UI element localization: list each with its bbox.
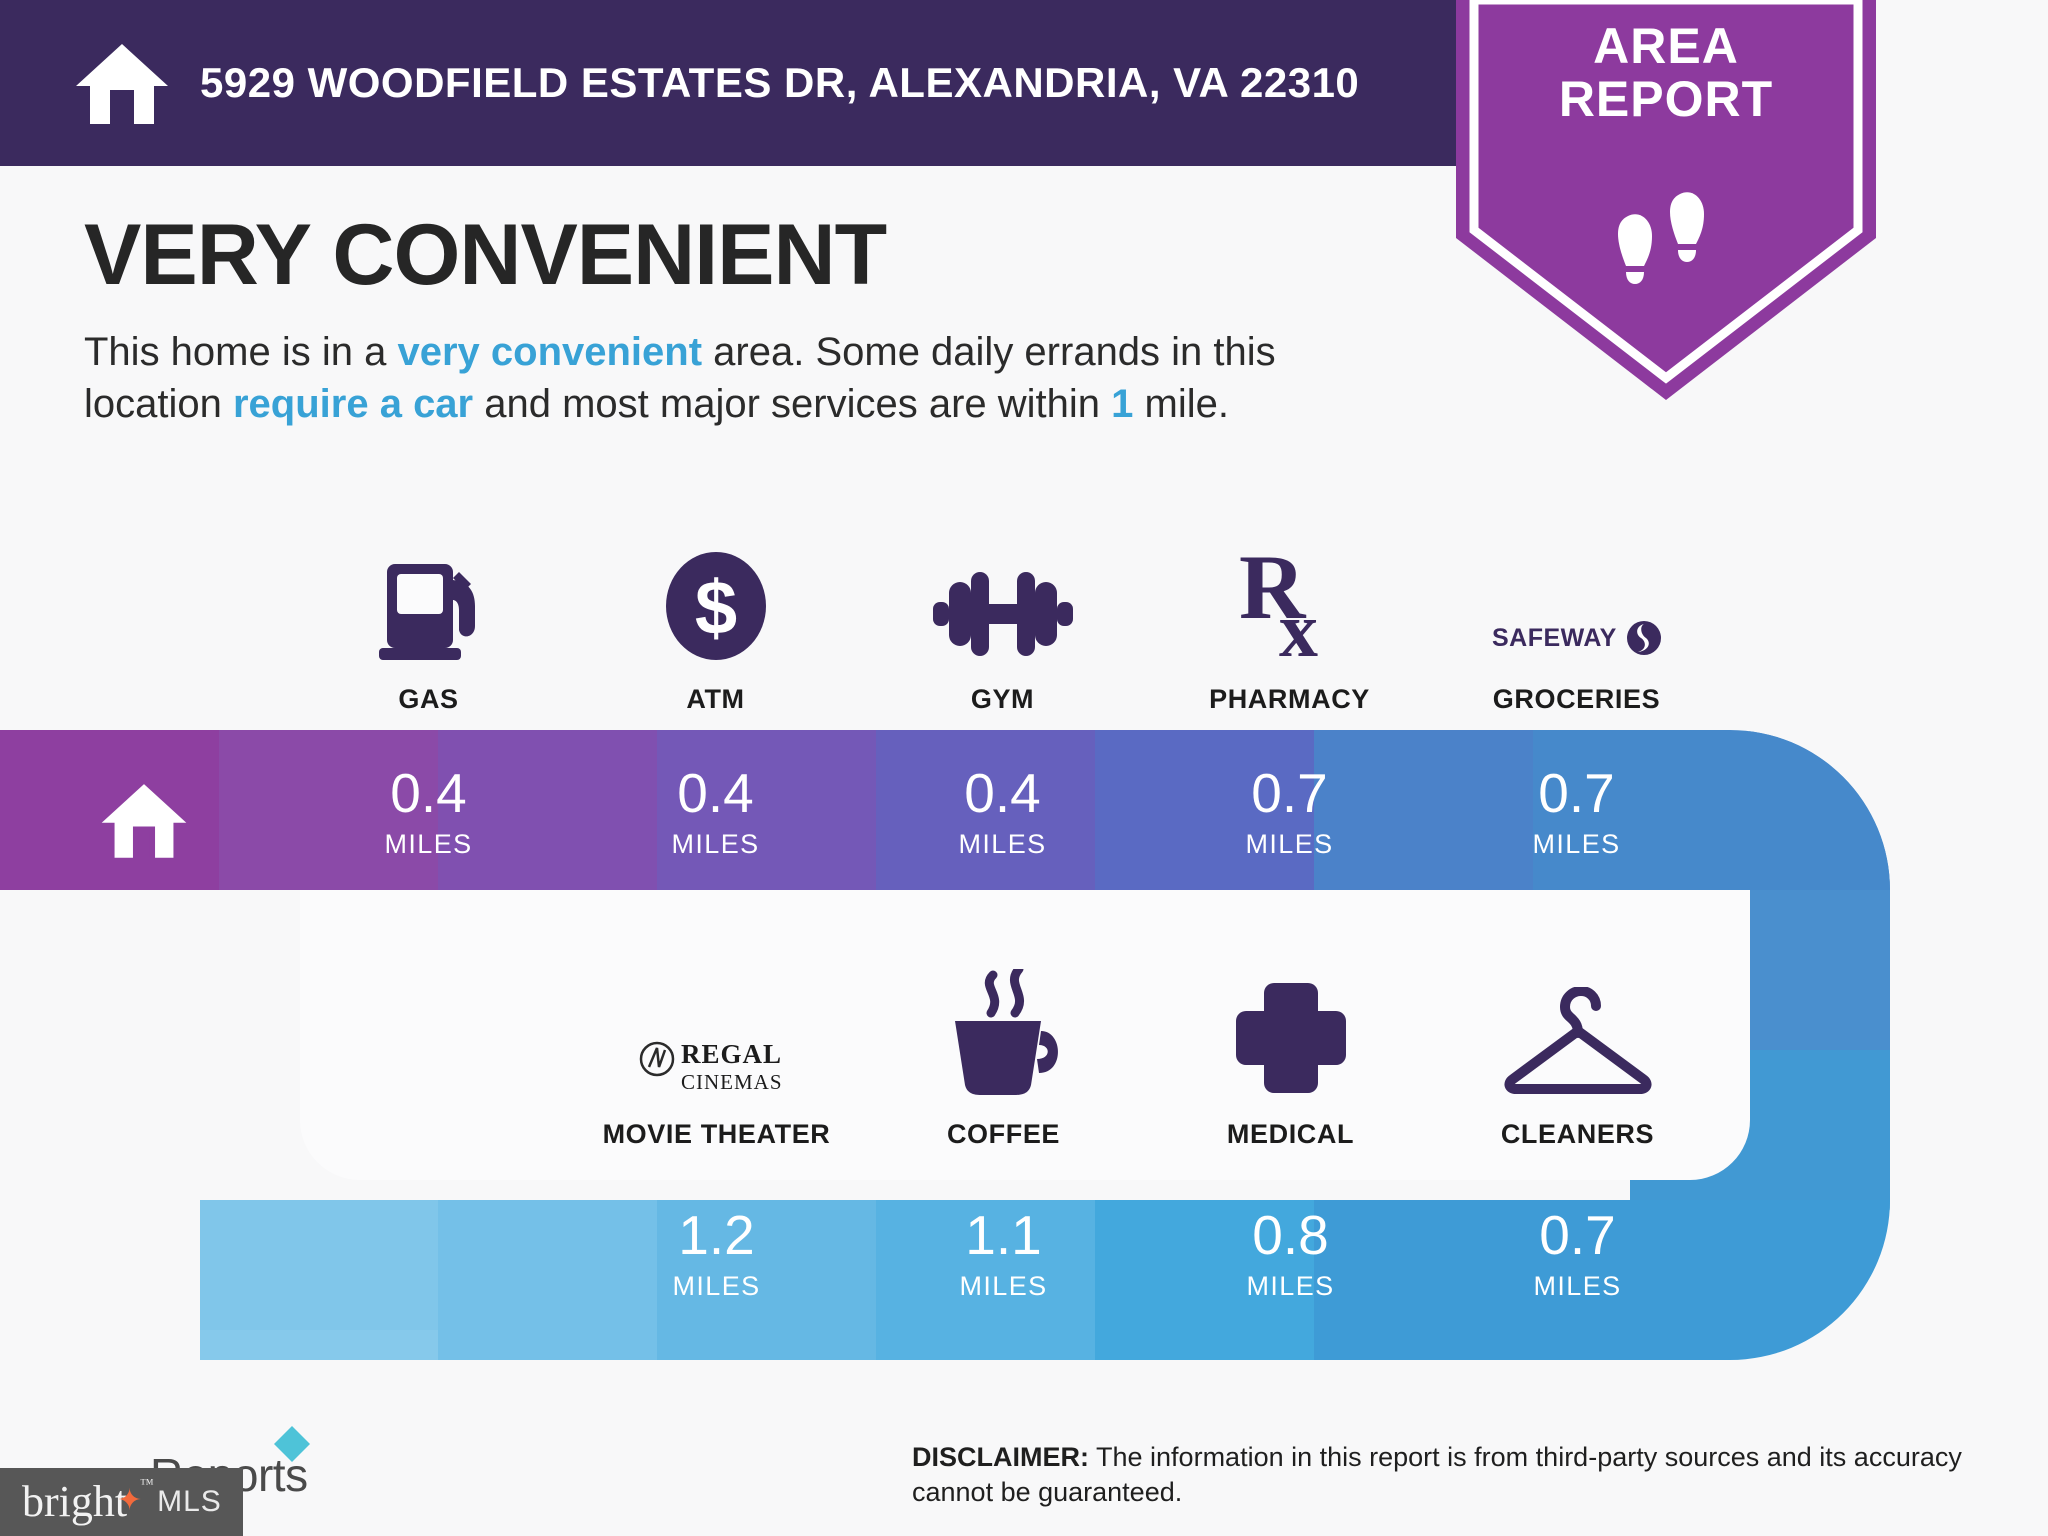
badge-label: AREA REPORT <box>1456 20 1876 126</box>
header-bar: 5929 WOODFIELD ESTATES DR, ALEXANDRIA, V… <box>0 0 1456 166</box>
distance-unit: MILES <box>1433 829 1720 860</box>
sparkle-icon: ✦ <box>117 1486 142 1516</box>
medical-cross-icon <box>1232 965 1350 1097</box>
svg-text:x: x <box>1279 586 1318 662</box>
amenity-label: MEDICAL <box>1227 1119 1354 1150</box>
trademark-mark: ™ <box>140 1478 154 1492</box>
distance-groceries: 0.7 MILES <box>1433 766 1720 860</box>
distance-value: 0.4 <box>572 766 859 821</box>
distance-value: 0.7 <box>1434 1208 1721 1263</box>
amenity-cleaners: CLEANERS <box>1434 965 1721 1150</box>
distance-row-2: 1.2 MILES 1.1 MILES 0.8 MILES 0.7 MILES <box>573 1208 1721 1302</box>
amenity-movie-theater: REGAL CINEMAS MOVIE THEATER <box>573 965 860 1150</box>
amenity-groceries: SAFEWAY GROCERIES <box>1433 530 1720 715</box>
amenity-atm: $ ATM <box>572 530 859 715</box>
bright-wordmark: bright✦™ <box>22 1480 127 1524</box>
amenity-medical: MEDICAL <box>1147 965 1434 1150</box>
amenity-label: ATM <box>686 684 744 715</box>
home-icon <box>98 779 190 861</box>
hero-text-4: mile. <box>1133 382 1229 426</box>
distance-atm: 0.4 MILES <box>572 766 859 860</box>
regal-cinemas-logo-icon: REGAL CINEMAS <box>637 965 797 1097</box>
distance-unit: MILES <box>860 1271 1147 1302</box>
distance-cleaners: 0.7 MILES <box>1434 1208 1721 1302</box>
amenity-label: CLEANERS <box>1501 1119 1654 1150</box>
area-report-badge: AREA REPORT <box>1456 0 1876 400</box>
hero-highlight-1: very convenient <box>397 330 702 374</box>
bright-word-text: bright <box>22 1477 127 1526</box>
distance-value: 0.4 <box>859 766 1146 821</box>
distance-movie-theater: 1.2 MILES <box>573 1208 860 1302</box>
distance-value: 1.1 <box>860 1208 1147 1263</box>
page-title: VERY CONVENIENT <box>84 212 1404 298</box>
home-icon <box>72 40 172 126</box>
amenity-label: GROCERIES <box>1493 684 1660 715</box>
distance-value: 0.4 <box>285 766 572 821</box>
amenity-pharmacy: R x PHARMACY <box>1146 530 1433 715</box>
distance-unit: MILES <box>1434 1271 1721 1302</box>
distance-gas: 0.4 MILES <box>285 766 572 860</box>
amenity-gym: GYM <box>859 530 1146 715</box>
disclaimer: DISCLAIMER: The information in this repo… <box>912 1440 1992 1509</box>
distance-unit: MILES <box>285 829 572 860</box>
dollar-circle-icon: $ <box>661 530 771 662</box>
footprints-icon <box>1606 180 1726 290</box>
distance-unit: MILES <box>572 829 859 860</box>
amenity-row-1: GAS $ ATM <box>285 530 1720 715</box>
amenity-label: PHARMACY <box>1209 684 1370 715</box>
distance-unit: MILES <box>859 829 1146 860</box>
home-marker <box>0 740 287 900</box>
hero-highlight-2: require a car <box>233 382 473 426</box>
bright-mls-logo: bright✦™ MLS <box>0 1468 243 1536</box>
distance-value: 0.7 <box>1146 766 1433 821</box>
coffee-cup-icon <box>941 965 1067 1097</box>
amenity-coffee: COFFEE <box>860 965 1147 1150</box>
hero-section: VERY CONVENIENT This home is in a very c… <box>84 212 1404 430</box>
svg-text:REGAL: REGAL <box>681 1039 782 1069</box>
svg-text:$: $ <box>694 566 736 651</box>
distance-gym: 0.4 MILES <box>859 766 1146 860</box>
distance-pharmacy: 0.7 MILES <box>1146 766 1433 860</box>
amenity-label: MOVIE THEATER <box>603 1119 831 1150</box>
header-address: 5929 WOODFIELD ESTATES DR, ALEXANDRIA, V… <box>200 59 1359 107</box>
hero-description: This home is in a very convenient area. … <box>84 326 1404 430</box>
distance-medical: 0.8 MILES <box>1147 1208 1434 1302</box>
disclaimer-label: DISCLAIMER: <box>912 1442 1089 1472</box>
distance-row-1: 0.4 MILES 0.4 MILES 0.4 MILES 0.7 MILES … <box>285 766 1720 860</box>
distance-value: 1.2 <box>573 1208 860 1263</box>
distance-unit: MILES <box>1147 1271 1434 1302</box>
hero-highlight-3: 1 <box>1111 382 1133 426</box>
mls-wordmark: MLS <box>157 1485 222 1519</box>
amenity-label: GYM <box>971 684 1034 715</box>
distance-unit: MILES <box>573 1271 860 1302</box>
rx-icon: R x <box>1237 530 1343 662</box>
amenity-gas: GAS <box>285 530 572 715</box>
amenity-label: GAS <box>398 684 458 715</box>
distance-value: 0.8 <box>1147 1208 1434 1263</box>
hero-text-3: and most major services are within <box>473 382 1111 426</box>
amenity-row-2: REGAL CINEMAS MOVIE THEATER COFFEE <box>573 965 1721 1150</box>
dumbbell-icon <box>933 530 1073 662</box>
distance-value: 0.7 <box>1433 766 1720 821</box>
safeway-logo-icon: SAFEWAY <box>1492 530 1662 662</box>
svg-text:SAFEWAY: SAFEWAY <box>1492 624 1617 652</box>
amenity-label: COFFEE <box>947 1119 1060 1150</box>
gas-pump-icon <box>373 530 485 662</box>
hero-text-1: This home is in a <box>84 330 397 374</box>
distance-coffee: 1.1 MILES <box>860 1208 1147 1302</box>
clothes-hanger-icon <box>1503 965 1653 1097</box>
badge-line-1: AREA <box>1456 20 1876 73</box>
badge-line-2: REPORT <box>1456 73 1876 126</box>
distance-unit: MILES <box>1146 829 1433 860</box>
svg-text:CINEMAS: CINEMAS <box>681 1070 783 1094</box>
